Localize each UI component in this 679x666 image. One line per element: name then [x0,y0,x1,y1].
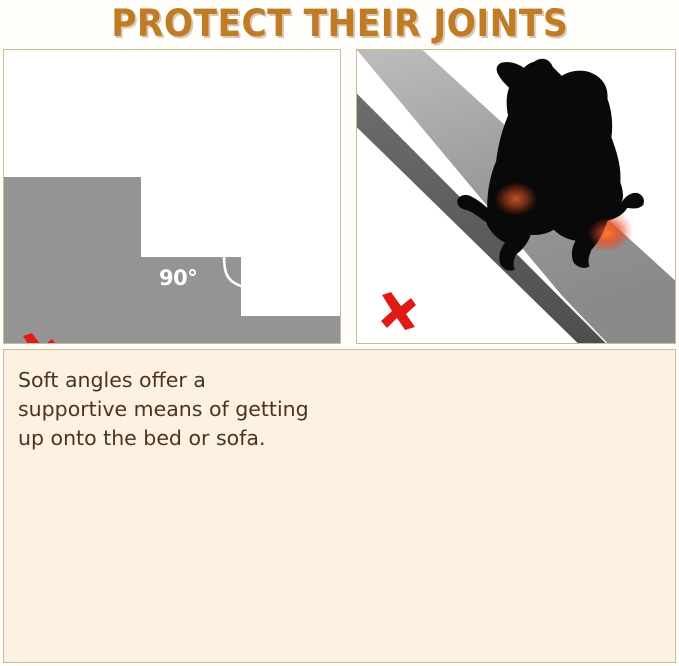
angle-label: 90° [159,266,197,290]
title-bar: PROTECT THEIR JOINTS [0,0,679,46]
page-title: PROTECT THEIR JOINTS [111,5,568,42]
stair-step-top [4,177,141,344]
stair-step-bottom [241,316,341,344]
right-angle-arc-icon [202,247,246,291]
panel-steep-ramp [356,49,676,344]
panel-solution: Soft angles offer a supportive means of … [3,349,676,663]
red-x-icon [16,328,62,344]
panel-steep-stairs: 90° [3,49,341,344]
infographic-root: PROTECT THEIR JOINTS 90° [0,0,679,666]
solution-description: Soft angles offer a supportive means of … [18,366,318,453]
red-x-icon [375,287,421,331]
